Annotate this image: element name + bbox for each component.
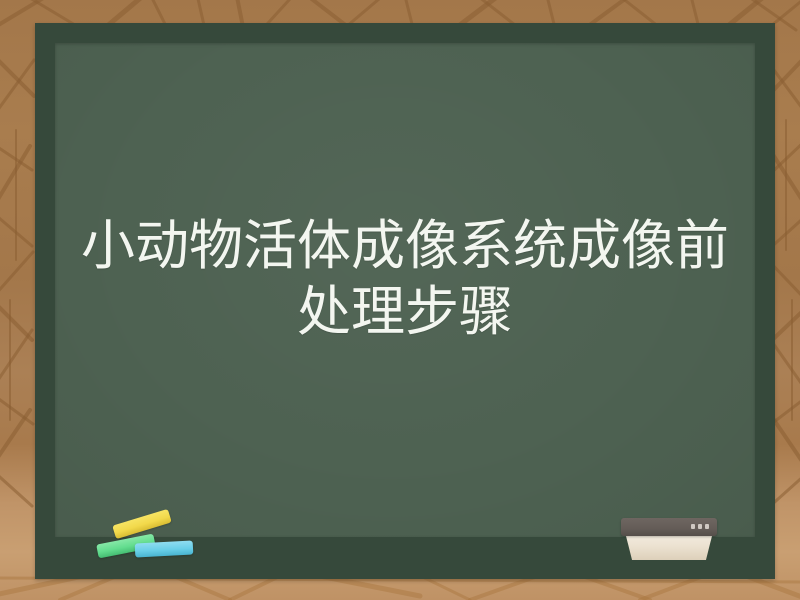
eraser-pad [625, 532, 713, 560]
blackboard-frame: 小动物活体成像系统成像前处理步骤 [35, 23, 775, 579]
board-eraser [621, 518, 717, 560]
chalk-blue [135, 540, 194, 557]
blackboard-scene: 小动物活体成像系统成像前处理步骤 [0, 0, 800, 600]
eraser-handle [621, 518, 717, 536]
eraser-dots-icon [691, 524, 709, 529]
page-title: 小动物活体成像系统成像前处理步骤 [35, 213, 775, 345]
